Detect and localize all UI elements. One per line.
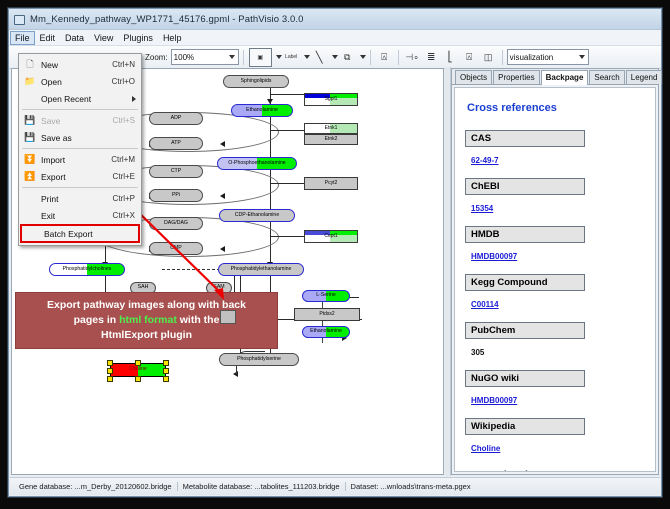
node-label: Phosphatidylcholines bbox=[63, 267, 112, 272]
resize-handle-se[interactable] bbox=[163, 376, 169, 382]
file-menu-separator-2 bbox=[22, 148, 138, 149]
shape-tool-icon[interactable]: ⧉ bbox=[339, 49, 356, 66]
node-label: DAG/DAG bbox=[164, 221, 188, 226]
export-icon: ⏫ bbox=[19, 171, 41, 182]
node-label: Sgpl1 bbox=[325, 97, 338, 102]
file-menu-accel: Ctrl+E bbox=[113, 172, 141, 181]
xref-value-link[interactable]: 15354 bbox=[471, 204, 493, 213]
node-l-serine[interactable]: L-Serine bbox=[302, 290, 350, 302]
node-o-phosphoethanolamine[interactable]: O-Phosphoethanolamine bbox=[217, 157, 297, 170]
save-as-icon: 💾 bbox=[19, 132, 41, 143]
node-label: CDP-Ethanolamine bbox=[235, 213, 279, 218]
open-folder-icon: 📁 bbox=[19, 76, 41, 87]
window-title: Mm_Kennedy_pathway_WP1771_45176.gpml - P… bbox=[30, 14, 304, 25]
title-bar: Mm_Kennedy_pathway_WP1771_45176.gpml - P… bbox=[9, 9, 661, 30]
xref-value-link[interactable]: 62-49-7 bbox=[471, 156, 499, 165]
file-menu-item-new[interactable]: 🗋 New Ctrl+N bbox=[19, 56, 141, 73]
anchor-tool-icon[interactable]: ⍓ bbox=[376, 49, 393, 66]
pathvisio-window: Mm_Kennedy_pathway_WP1771_45176.gpml - P… bbox=[8, 8, 662, 497]
toolbar-separator-2 bbox=[370, 50, 371, 65]
node-cept1[interactable]: Cept1 bbox=[304, 230, 358, 243]
line-dropdown-icon[interactable] bbox=[332, 55, 338, 59]
node-label: SAH bbox=[138, 285, 149, 290]
status-dataset: Dataset: ...wnloads\trans-meta.pgex bbox=[345, 482, 476, 491]
node-ethanolamine-out[interactable]: Ethanolamine bbox=[302, 326, 350, 338]
align-left-tool-icon[interactable]: ⊣∘ bbox=[404, 49, 421, 66]
visualization-combo[interactable]: visualization bbox=[507, 49, 589, 65]
node-label: L-Serine bbox=[316, 293, 336, 298]
distribute-tool-icon[interactable]: ⎣ bbox=[442, 49, 459, 66]
callout-line-2-pre: pages in bbox=[74, 314, 120, 326]
file-menu-item-print[interactable]: Print Ctrl+P bbox=[19, 190, 141, 207]
sidebar-panel: Objects Properties Backpage Search Legen… bbox=[451, 68, 659, 475]
node-label: ADP bbox=[171, 116, 182, 121]
node-label: Choline bbox=[129, 367, 147, 372]
node-ppi[interactable]: PPi bbox=[149, 189, 203, 202]
resize-handle-ne[interactable] bbox=[163, 360, 169, 366]
node-ethanolamine[interactable]: Ethanolamine bbox=[231, 104, 293, 117]
menu-edit[interactable]: Edit bbox=[35, 31, 61, 45]
file-menu-label: New bbox=[41, 60, 112, 70]
tab-objects[interactable]: Objects bbox=[455, 70, 492, 84]
arrow-right-to-cmp bbox=[220, 246, 225, 252]
xref-header: PubChem bbox=[465, 322, 585, 339]
file-menu-label: Save as bbox=[41, 133, 135, 143]
zoom-combo[interactable]: 100% bbox=[171, 49, 239, 65]
node-phosphatidylethanolamine[interactable]: Phosphatidylethanolamine bbox=[218, 263, 304, 276]
menu-file[interactable]: File bbox=[10, 31, 35, 45]
resize-handle-sw[interactable] bbox=[107, 376, 113, 382]
menu-data[interactable]: Data bbox=[60, 31, 89, 45]
zoom-value: 100% bbox=[174, 53, 194, 62]
file-menu-item-save-as[interactable]: 💾 Save as bbox=[19, 129, 141, 146]
toolbar-separator-4 bbox=[502, 50, 503, 65]
xref-cas: CAS 62-49-7 bbox=[465, 130, 645, 176]
node-label: Phosphatidylserine bbox=[237, 357, 281, 362]
callout-line-2-post: with the bbox=[177, 314, 220, 326]
xref-header: NuGO wiki bbox=[465, 370, 585, 387]
node-label: Phosphatidylethanolamine bbox=[231, 267, 292, 272]
tab-backpage[interactable]: Backpage bbox=[541, 70, 589, 85]
file-menu-label: Print bbox=[41, 194, 113, 204]
file-menu-accel: Ctrl+X bbox=[113, 211, 141, 220]
node-label: O-Phosphoethanolamine bbox=[228, 161, 285, 166]
import-icon: ⏬ bbox=[19, 154, 41, 165]
menu-bar: File Edit Data View Plugins Help bbox=[9, 30, 661, 46]
xref-kegg-compound: Kegg Compound C00114 bbox=[465, 274, 645, 320]
node-anchor-box[interactable] bbox=[220, 310, 236, 324]
xref-wikipedia: Wikipedia Choline bbox=[465, 418, 645, 464]
node-phosphatidylserine[interactable]: Phosphatidylserine bbox=[219, 353, 299, 366]
node-label: Ethanolamine bbox=[246, 108, 278, 113]
node-ptdss2[interactable]: Ptdss2 bbox=[294, 308, 360, 321]
file-menu-item-open-recent[interactable]: Open Recent bbox=[19, 90, 141, 107]
menu-view[interactable]: View bbox=[89, 31, 118, 45]
xref-header: Wikipedia bbox=[465, 418, 585, 435]
file-menu-accel: Ctrl+O bbox=[112, 77, 141, 86]
resize-handle-e[interactable] bbox=[163, 368, 169, 374]
group-tool-icon[interactable]: ⍓ bbox=[461, 49, 478, 66]
callout-highlight-text: html format bbox=[119, 314, 177, 326]
toolbar-separator-3 bbox=[398, 50, 399, 65]
tab-search[interactable]: Search bbox=[589, 70, 624, 84]
datanode-dropdown-icon[interactable] bbox=[276, 55, 282, 59]
callout-annotation: Export pathway images along with back pa… bbox=[15, 292, 278, 349]
resize-handle-n[interactable] bbox=[135, 360, 141, 366]
tab-properties[interactable]: Properties bbox=[493, 70, 539, 84]
label-tool-icon[interactable]: Label bbox=[283, 49, 300, 66]
node-sphingolipids[interactable]: Sphingolipids bbox=[223, 75, 289, 88]
line-tool-icon[interactable]: ╲ bbox=[311, 49, 328, 66]
save-icon: 💾 bbox=[19, 115, 41, 126]
file-menu-separator-1 bbox=[22, 109, 138, 110]
xref-value-link[interactable]: Choline bbox=[471, 444, 500, 453]
arrow-right-to-ppi bbox=[220, 193, 225, 199]
node-label: CTP bbox=[171, 169, 181, 174]
status-gene-database: Gene database: ...m_Derby_20120602.bridg… bbox=[14, 482, 177, 491]
node-etnk2[interactable]: Etnk2 bbox=[304, 134, 358, 145]
node-label: Pcyt2 bbox=[325, 181, 338, 186]
node-sgpl1[interactable]: Sgpl1 bbox=[304, 93, 358, 106]
node-label: ATP bbox=[171, 141, 181, 146]
file-menu-label: Open Recent bbox=[41, 94, 141, 104]
xref-chebi: ChEBI 15354 bbox=[465, 178, 645, 224]
chevron-down-icon bbox=[229, 55, 235, 59]
node-pcyt2[interactable]: Pcyt2 bbox=[304, 177, 358, 190]
xref-value-text: 305 bbox=[471, 348, 484, 357]
node-phosphatidylcholines[interactable]: Phosphatidylcholines bbox=[49, 263, 125, 276]
node-dag[interactable]: DAG/DAG bbox=[149, 217, 203, 230]
chevron-right-icon bbox=[132, 96, 136, 102]
datanode-tool-icon[interactable]: ▣ bbox=[249, 48, 272, 67]
file-menu-item-export[interactable]: ⏫ Export Ctrl+E bbox=[19, 168, 141, 185]
resize-handle-s[interactable] bbox=[135, 376, 141, 382]
node-atp[interactable]: ATP bbox=[149, 137, 203, 150]
xref-hmdb: HMDB HMDB00097 bbox=[465, 226, 645, 272]
node-label: Cept1 bbox=[324, 234, 337, 239]
node-label: CMP bbox=[170, 246, 182, 251]
menu-plugins[interactable]: Plugins bbox=[118, 31, 158, 45]
node-label: Etnk1 bbox=[325, 126, 338, 131]
xref-header: Kegg Compound bbox=[465, 274, 585, 291]
xref-pubchem: PubChem 305 bbox=[465, 322, 645, 368]
xref-value-link[interactable]: HMDB00097 bbox=[471, 252, 517, 261]
xref-header: HMDB bbox=[465, 226, 585, 243]
file-menu-accel: Ctrl+P bbox=[113, 194, 141, 203]
file-menu-separator-3 bbox=[22, 187, 138, 188]
new-file-icon: 🗋 bbox=[19, 57, 41, 73]
file-menu-accel: Ctrl+M bbox=[111, 155, 141, 164]
callout-line-3: HtmlExport plugin bbox=[22, 328, 271, 343]
sidebar-tabs: Objects Properties Backpage Search Legen… bbox=[452, 69, 658, 85]
file-menu-item-open[interactable]: 📁 Open Ctrl+O bbox=[19, 73, 141, 90]
cross-references-title: Cross references bbox=[467, 102, 645, 114]
node-adp[interactable]: ADP bbox=[149, 112, 203, 125]
node-label: PPi bbox=[172, 193, 180, 198]
backpage-content: Cross references CAS 62-49-7 ChEBI 15354… bbox=[454, 87, 656, 472]
resize-handle-nw[interactable] bbox=[107, 360, 113, 366]
selected-choline-group[interactable]: Choline bbox=[110, 363, 166, 377]
xref-header: CAS bbox=[465, 130, 585, 147]
pathvisio-icon bbox=[13, 13, 25, 25]
node-label: Ethanolamine bbox=[310, 329, 342, 334]
file-menu-accel: Ctrl+S bbox=[113, 116, 141, 125]
file-menu-label: Save bbox=[41, 116, 113, 126]
xref-value-link[interactable]: HMDB00097 bbox=[471, 396, 517, 405]
xref-nugo-wiki: NuGO wiki HMDB00097 bbox=[465, 370, 645, 416]
zoom-label: Zoom: bbox=[145, 53, 168, 62]
node-etnk1[interactable]: Etnk1 bbox=[304, 123, 358, 134]
node-label: Sphingolipids bbox=[241, 79, 272, 84]
arrow-right-to-atp bbox=[220, 141, 225, 147]
chevron-down-icon-2 bbox=[579, 55, 585, 59]
file-menu-label: Exit bbox=[41, 211, 113, 221]
order-tool-icon[interactable]: ◫ bbox=[480, 49, 497, 66]
menu-help[interactable]: Help bbox=[158, 31, 187, 45]
shape-dropdown-icon[interactable] bbox=[360, 55, 366, 59]
expression-data-title: Expression data bbox=[465, 470, 645, 472]
node-cmp[interactable]: CMP bbox=[149, 242, 203, 255]
xref-value-link[interactable]: C00114 bbox=[471, 300, 499, 309]
status-bar: Gene database: ...m_Derby_20120602.bridg… bbox=[10, 477, 660, 495]
toolbar-separator bbox=[243, 50, 244, 65]
node-label: Etnk2 bbox=[325, 137, 338, 142]
tab-legend[interactable]: Legend bbox=[626, 70, 663, 84]
resize-handle-w[interactable] bbox=[107, 368, 113, 374]
node-cdp-ethanolamine[interactable]: CDP-Ethanolamine bbox=[219, 209, 295, 222]
file-menu-label: Export bbox=[41, 172, 113, 182]
file-menu-item-save: 💾 Save Ctrl+S bbox=[19, 112, 141, 129]
file-menu-popup[interactable]: 🗋 New Ctrl+N 📁 Open Ctrl+O Open Recent 💾… bbox=[18, 53, 142, 246]
file-menu-item-import[interactable]: ⏬ Import Ctrl+M bbox=[19, 151, 141, 168]
xref-header: ChEBI bbox=[465, 178, 585, 195]
file-menu-item-batch-export[interactable]: Batch Export bbox=[20, 224, 140, 243]
file-menu-label: Batch Export bbox=[44, 229, 138, 239]
visualization-value: visualization bbox=[510, 53, 554, 62]
status-metabolite-database: Metabolite database: ...tabolites_111203… bbox=[177, 482, 345, 491]
file-menu-accel: Ctrl+N bbox=[112, 60, 141, 69]
file-menu-item-exit[interactable]: Exit Ctrl+X bbox=[19, 207, 141, 224]
node-ctp[interactable]: CTP bbox=[149, 165, 203, 178]
align-center-tool-icon[interactable]: ≣ bbox=[423, 49, 440, 66]
node-label: Ptdss2 bbox=[319, 312, 334, 317]
file-menu-label: Open bbox=[41, 77, 112, 87]
node-label: SAM bbox=[213, 285, 224, 290]
label-dropdown-icon[interactable] bbox=[304, 55, 310, 59]
file-menu-label: Import bbox=[41, 155, 111, 165]
